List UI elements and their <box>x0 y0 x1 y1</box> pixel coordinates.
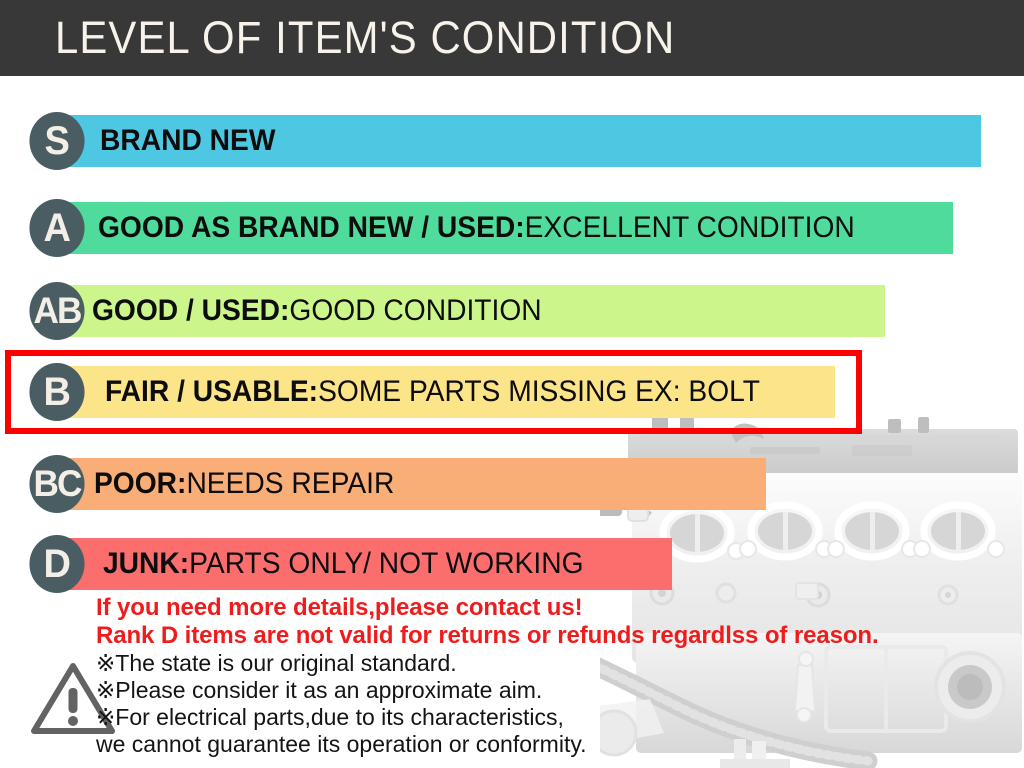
warning-red-line-1: If you need more details,please contact … <box>96 594 879 622</box>
rank-label-b: FAIR / USABLE: SOME PARTS MISSING EX: BO… <box>105 366 760 418</box>
rank-badge-a: A <box>29 199 84 257</box>
page-title: LEVEL OF ITEM'S CONDITION <box>55 12 675 64</box>
rank-label-b-bold: FAIR / USABLE: <box>105 375 318 409</box>
rank-label-bc-regular: NEEDS REPAIR <box>186 467 394 501</box>
rank-label-d-bold: JUNK: <box>103 547 189 581</box>
warning-note-3: ※For electrical parts,due to its charact… <box>96 704 879 731</box>
warning-text-block: If you need more details,please contact … <box>96 594 879 758</box>
rank-label-ab: GOOD / USED: GOOD CONDITION <box>92 285 542 337</box>
rank-label-d: JUNK: PARTS ONLY/ NOT WORKING <box>103 538 584 590</box>
rank-label-s-bold: BRAND NEW <box>100 124 275 158</box>
condition-chart-page: LEVEL OF ITEM'S CONDITION S BRAND NEW A … <box>0 0 1024 768</box>
rank-label-ab-regular: GOOD CONDITION <box>289 294 541 328</box>
rank-label-bc-bold: POOR: <box>94 467 186 501</box>
rank-badge-bc: BC <box>29 455 84 513</box>
rank-label-ab-bold: GOOD / USED: <box>92 294 289 328</box>
warning-note-4: we cannot guarantee its operation or con… <box>96 731 879 758</box>
rank-badge-d: D <box>29 535 84 593</box>
warning-note-1: ※The state is our original standard. <box>96 650 879 677</box>
rank-label-a-regular: EXCELLENT CONDITION <box>525 211 855 245</box>
rank-badge-b: B <box>29 363 84 421</box>
warning-red-line-2: Rank D items are not valid for returns o… <box>96 622 879 650</box>
rank-label-a: GOOD AS BRAND NEW / USED: EXCELLENT COND… <box>98 202 855 254</box>
rank-badge-s: S <box>29 112 84 170</box>
rank-label-d-regular: PARTS ONLY/ NOT WORKING <box>189 547 583 581</box>
rank-label-s: BRAND NEW <box>100 115 275 167</box>
page-header: LEVEL OF ITEM'S CONDITION <box>0 0 1024 76</box>
rank-badge-ab: AB <box>29 282 84 340</box>
rank-label-bc: POOR: NEEDS REPAIR <box>94 458 394 510</box>
rank-label-b-regular: SOME PARTS MISSING EX: BOLT <box>318 375 760 409</box>
rank-label-a-bold: GOOD AS BRAND NEW / USED: <box>98 211 525 245</box>
warning-note-2: ※Please consider it as an approximate ai… <box>96 677 879 704</box>
